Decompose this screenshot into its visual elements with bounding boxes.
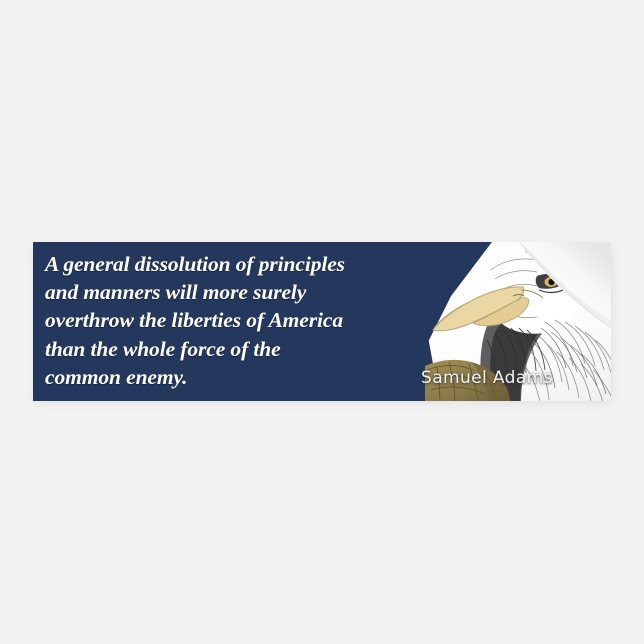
bumper-sticker: A general dissolution of principles and …: [33, 242, 611, 401]
product-image-canvas: A general dissolution of principles and …: [0, 0, 644, 644]
quote-text: A general dissolution of principles and …: [45, 250, 477, 391]
quote-attribution: Samuel Adams: [421, 368, 553, 388]
sticker-face: A general dissolution of principles and …: [33, 242, 611, 401]
